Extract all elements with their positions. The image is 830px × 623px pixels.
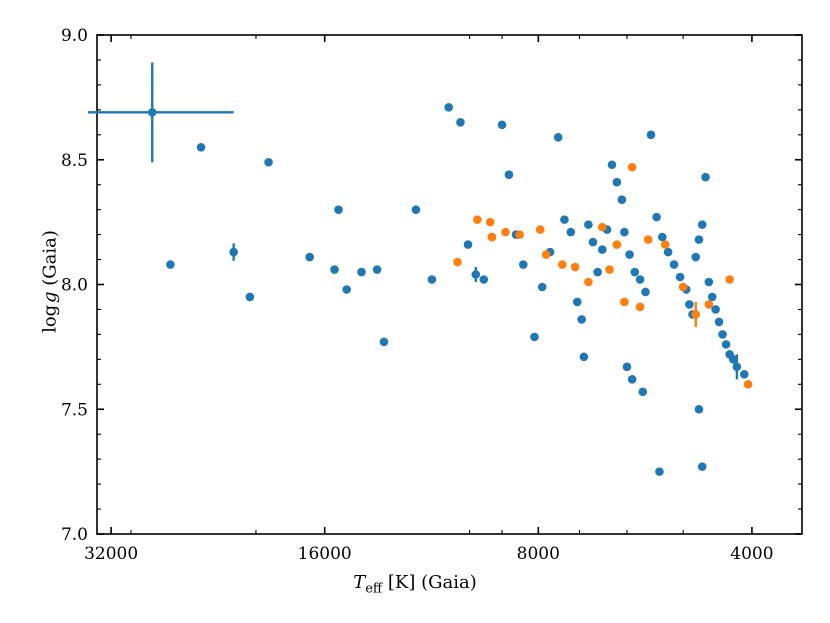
marker xyxy=(558,260,567,269)
data-point xyxy=(538,283,547,292)
marker xyxy=(573,298,582,307)
data-point xyxy=(647,131,656,140)
marker xyxy=(357,268,366,277)
marker xyxy=(453,258,462,267)
data-point xyxy=(661,240,670,249)
data-point xyxy=(740,370,749,379)
marker xyxy=(744,380,753,389)
data-point xyxy=(620,298,629,307)
data-point xyxy=(638,387,647,396)
y-tick-label: 8.0 xyxy=(61,276,88,296)
axis-tick-labels: 3200016000800040009.08.58.07.57.0 xyxy=(61,26,774,564)
marker xyxy=(519,260,528,269)
marker xyxy=(444,103,453,112)
data-point xyxy=(305,253,314,262)
marker xyxy=(618,195,627,204)
data-point xyxy=(695,405,704,414)
data-point xyxy=(708,293,717,302)
marker xyxy=(679,283,688,292)
data-point xyxy=(613,178,622,187)
chart-svg: 3200016000800040009.08.58.07.57.0 xyxy=(0,0,830,623)
marker xyxy=(698,462,707,471)
marker xyxy=(722,340,731,349)
data-point xyxy=(246,293,255,302)
marker xyxy=(598,245,607,254)
marker xyxy=(625,250,634,259)
data-point xyxy=(515,230,524,239)
marker xyxy=(473,215,482,224)
data-point xyxy=(705,278,714,287)
data-point xyxy=(428,275,437,284)
data-point xyxy=(560,215,569,224)
data-point xyxy=(88,62,234,162)
data-point xyxy=(229,243,238,260)
data-point xyxy=(473,215,482,224)
marker xyxy=(589,238,598,247)
y-axis-label-text: log g (Gaia) xyxy=(40,230,61,333)
data-point xyxy=(197,143,206,152)
figure-canvas: 3200016000800040009.08.58.07.57.0 log g … xyxy=(0,0,830,623)
marker xyxy=(584,220,593,229)
data-point xyxy=(589,238,598,247)
marker xyxy=(630,268,639,277)
marker xyxy=(636,275,645,284)
data-point xyxy=(412,205,421,214)
marker xyxy=(644,235,653,244)
x-axis-label: Teff [K] (Gaia) xyxy=(0,572,830,597)
data-point xyxy=(519,260,528,269)
y-tick-label: 8.5 xyxy=(61,151,88,171)
data-point xyxy=(744,380,753,389)
marker xyxy=(740,370,749,379)
marker xyxy=(652,213,661,222)
marker xyxy=(501,228,510,237)
x-tick-label: 4000 xyxy=(730,544,773,564)
x-tick-label: 16000 xyxy=(298,544,352,564)
data-point xyxy=(725,275,734,284)
data-point xyxy=(655,467,664,476)
data-point xyxy=(530,333,539,342)
data-point xyxy=(330,265,339,274)
marker xyxy=(605,265,614,274)
marker xyxy=(373,265,382,274)
marker xyxy=(505,170,514,179)
marker xyxy=(655,467,664,476)
marker xyxy=(229,248,238,257)
marker xyxy=(705,300,714,309)
data-point xyxy=(357,268,366,277)
data-point xyxy=(630,268,639,277)
data-point xyxy=(488,233,497,242)
data-point xyxy=(453,258,462,267)
data-point xyxy=(373,265,382,274)
data-point xyxy=(486,218,495,227)
marker xyxy=(733,363,742,372)
marker xyxy=(571,263,580,272)
marker xyxy=(380,338,389,347)
data-point xyxy=(620,228,629,237)
x-axis-label-text: Teff [K] (Gaia) xyxy=(353,572,476,593)
marker xyxy=(620,298,629,307)
data-point xyxy=(380,338,389,347)
marker xyxy=(620,228,629,237)
data-point xyxy=(554,133,563,142)
data-point xyxy=(542,250,551,259)
data-point xyxy=(593,268,602,277)
y-tick-label: 9.0 xyxy=(61,26,88,46)
marker xyxy=(613,240,622,249)
data-point xyxy=(464,240,473,249)
data-point xyxy=(573,298,582,307)
data-point xyxy=(718,330,727,339)
data-points xyxy=(88,62,752,475)
marker xyxy=(628,163,637,172)
marker xyxy=(598,223,607,232)
marker xyxy=(246,293,255,302)
marker xyxy=(628,375,637,384)
data-point xyxy=(618,195,627,204)
marker xyxy=(715,318,724,327)
y-tick-label: 7.0 xyxy=(61,525,88,545)
marker xyxy=(554,133,563,142)
data-point xyxy=(715,318,724,327)
data-point xyxy=(641,288,650,297)
marker xyxy=(305,253,314,262)
data-point xyxy=(652,213,661,222)
data-point xyxy=(334,205,343,214)
data-point xyxy=(580,353,589,362)
marker xyxy=(593,268,602,277)
marker xyxy=(471,270,480,279)
data-point xyxy=(598,245,607,254)
marker xyxy=(342,285,351,294)
marker xyxy=(566,228,575,237)
marker xyxy=(486,218,495,227)
data-point xyxy=(471,267,480,282)
data-point xyxy=(644,235,653,244)
data-point xyxy=(605,265,614,274)
marker xyxy=(530,333,539,342)
data-point xyxy=(577,315,586,324)
marker xyxy=(708,293,717,302)
marker xyxy=(577,315,586,324)
data-point xyxy=(584,278,593,287)
data-point xyxy=(625,250,634,259)
data-point xyxy=(698,220,707,229)
marker xyxy=(661,240,670,249)
marker xyxy=(718,330,727,339)
data-point xyxy=(705,300,714,309)
marker xyxy=(479,275,488,284)
marker xyxy=(670,260,679,269)
marker xyxy=(613,178,622,187)
marker xyxy=(536,225,545,234)
marker xyxy=(685,300,694,309)
data-point xyxy=(264,158,273,167)
data-point xyxy=(695,235,704,244)
data-point xyxy=(664,248,673,257)
marker xyxy=(691,310,700,319)
data-point xyxy=(536,225,545,234)
data-point xyxy=(571,263,580,272)
x-tick-label: 8000 xyxy=(517,544,560,564)
marker xyxy=(695,235,704,244)
marker xyxy=(498,121,507,130)
marker xyxy=(638,387,647,396)
marker xyxy=(464,240,473,249)
data-point xyxy=(679,283,688,292)
data-point xyxy=(505,170,514,179)
marker xyxy=(701,173,710,182)
data-point xyxy=(598,223,607,232)
y-tick-label: 7.5 xyxy=(61,400,88,420)
marker xyxy=(515,230,524,239)
marker xyxy=(725,275,734,284)
marker xyxy=(647,131,656,140)
marker xyxy=(623,363,632,372)
marker xyxy=(698,220,707,229)
data-point xyxy=(628,163,637,172)
data-point xyxy=(613,240,622,249)
marker xyxy=(456,118,465,127)
data-point xyxy=(636,275,645,284)
data-point xyxy=(701,173,710,182)
marker xyxy=(488,233,497,242)
data-point xyxy=(628,375,637,384)
marker xyxy=(264,158,273,167)
marker xyxy=(542,250,551,259)
data-point xyxy=(501,228,510,237)
data-point xyxy=(498,121,507,130)
y-axis-label: log g (Gaia) xyxy=(40,0,61,581)
x-tick-label: 32000 xyxy=(84,544,138,564)
marker xyxy=(166,260,175,269)
data-point xyxy=(444,103,453,112)
data-point xyxy=(608,160,617,169)
data-point xyxy=(676,273,685,282)
marker xyxy=(636,303,645,312)
data-point xyxy=(342,285,351,294)
marker xyxy=(676,273,685,282)
data-point xyxy=(722,340,731,349)
marker xyxy=(560,215,569,224)
scatter-plot: 3200016000800040009.08.58.07.57.0 log g … xyxy=(0,0,830,623)
marker xyxy=(428,275,437,284)
data-point xyxy=(584,220,593,229)
data-point xyxy=(636,303,645,312)
data-point xyxy=(558,260,567,269)
data-point xyxy=(623,363,632,372)
marker xyxy=(691,253,700,262)
data-point xyxy=(479,275,488,284)
marker xyxy=(664,248,673,257)
marker xyxy=(580,353,589,362)
data-point xyxy=(456,118,465,127)
marker xyxy=(412,205,421,214)
marker xyxy=(538,283,547,292)
marker xyxy=(148,108,157,117)
data-point xyxy=(691,253,700,262)
data-point xyxy=(670,260,679,269)
marker xyxy=(584,278,593,287)
data-point xyxy=(685,300,694,309)
marker xyxy=(705,278,714,287)
data-point xyxy=(566,228,575,237)
marker xyxy=(330,265,339,274)
marker xyxy=(608,160,617,169)
data-point xyxy=(698,462,707,471)
marker xyxy=(641,288,650,297)
marker xyxy=(658,233,667,242)
marker xyxy=(695,405,704,414)
marker xyxy=(197,143,206,152)
data-point xyxy=(166,260,175,269)
data-point xyxy=(658,233,667,242)
marker xyxy=(334,205,343,214)
